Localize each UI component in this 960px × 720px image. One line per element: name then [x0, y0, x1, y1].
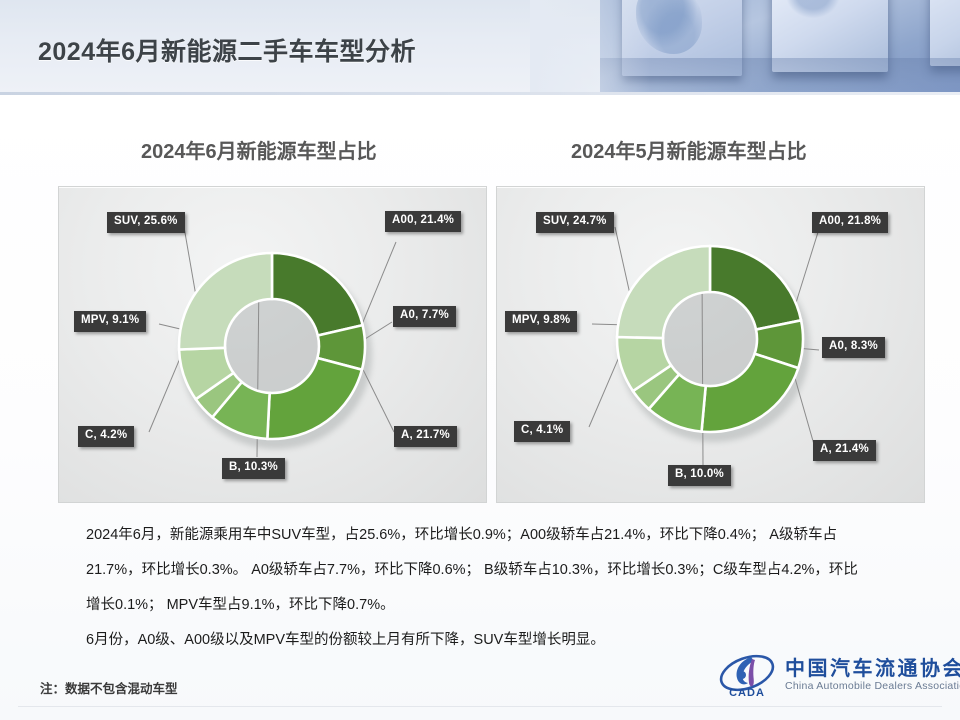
slide-header: 2024年6月新能源二手车车型分析: [0, 0, 960, 92]
callout-suv[interactable]: SUV, 24.7%: [536, 212, 614, 233]
cada-logo-text: 中国汽车流通协会 China Automobile Dealers Associ…: [785, 659, 960, 694]
cada-logo-icon: CADA: [718, 653, 776, 699]
chart-title-june: 2024年6月新能源车型占比: [141, 135, 377, 164]
cada-emblem-icon: CADA: [718, 653, 776, 699]
callout-a[interactable]: A, 21.7%: [394, 426, 457, 447]
paragraph-line-3: 增长0.1%； MPV车型占9.1%，环比下降0.7%。: [86, 588, 886, 623]
callout-a0[interactable]: A0, 7.7%: [393, 306, 456, 327]
chart-panel-may: SUV, 24.7% MPV, 9.8% C, 4.1% B, 10.0% A,…: [496, 186, 925, 503]
chart-title-may: 2024年5月新能源车型占比: [571, 135, 807, 164]
header-image-fade: [530, 0, 650, 92]
slide-root: 2024年6月新能源二手车车型分析 2024年6月新能源车型占比 2024年5月…: [0, 0, 960, 720]
decorative-cube-shadow: [600, 58, 960, 92]
callout-suv[interactable]: SUV, 25.6%: [107, 212, 185, 233]
callout-mpv[interactable]: MPV, 9.8%: [505, 311, 577, 332]
donut-svg-june: [59, 187, 486, 502]
paragraph-line-1: 2024年6月，新能源乘用车中SUV车型，占25.6%，环比增长0.9%；A00…: [86, 518, 886, 553]
callout-a00[interactable]: A00, 21.4%: [385, 211, 461, 232]
callout-c[interactable]: C, 4.1%: [514, 421, 570, 442]
chart-panel-june: SUV, 25.6% MPV, 9.1% C, 4.2% B, 10.3% A,…: [58, 186, 487, 503]
footnote: 注：数据不包含混动车型: [40, 678, 178, 697]
callout-a[interactable]: A, 21.4%: [813, 440, 876, 461]
callout-mpv[interactable]: MPV, 9.1%: [74, 311, 146, 332]
footer-divider: [18, 706, 942, 707]
callout-a0[interactable]: A0, 8.3%: [822, 337, 885, 358]
header-decorative-image: [600, 0, 960, 92]
callout-b[interactable]: B, 10.0%: [668, 465, 731, 486]
cada-logo-name-en: China Automobile Dealers Association: [785, 680, 960, 694]
cada-logo-name-cn: 中国汽车流通协会: [785, 659, 960, 680]
callout-b[interactable]: B, 10.3%: [222, 458, 285, 479]
donut-chart-june: [59, 187, 486, 502]
decorative-cube: [930, 0, 960, 66]
svg-text:CADA: CADA: [729, 687, 765, 699]
cada-logo: CADA 中国汽车流通协会 China Automobile Dealers A…: [718, 651, 946, 701]
callout-c[interactable]: C, 4.2%: [78, 426, 134, 447]
analysis-paragraph: 2024年6月，新能源乘用车中SUV车型，占25.6%，环比增长0.9%；A00…: [86, 518, 886, 658]
page-title: 2024年6月新能源二手车车型分析: [38, 32, 416, 68]
callout-a00[interactable]: A00, 21.8%: [812, 212, 888, 233]
paragraph-line-2: 21.7%，环比增长0.3%。 A0级轿车占7.7%，环比下降0.6%； B级轿…: [86, 553, 886, 588]
